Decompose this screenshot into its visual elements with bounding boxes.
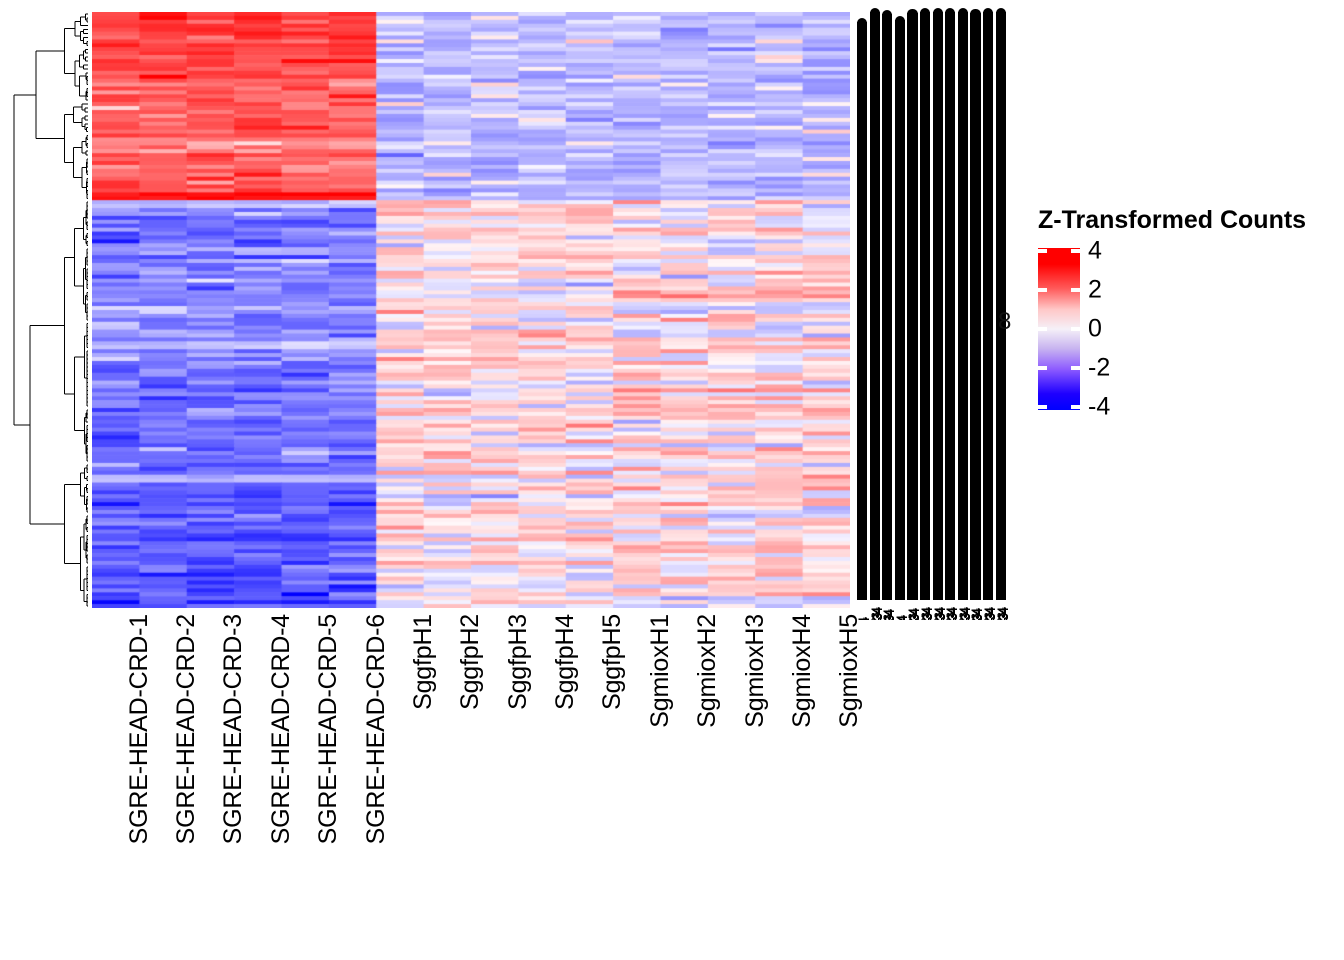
column-label-sggfph4: SggfpH4 xyxy=(551,614,580,710)
row-label: LOC100101234 xyxy=(945,608,957,620)
row-label-band-fill xyxy=(983,12,993,600)
legend-tick-label: 4 xyxy=(1088,239,1102,264)
legend-tick-mark xyxy=(1071,366,1080,370)
row-label: LOC100101234 xyxy=(933,608,945,620)
column-label-sgmioxh4: SgmioxH4 xyxy=(788,614,817,728)
color-legend: Z-Transformed Counts 420-2-4 xyxy=(1036,206,1336,416)
column-label-sggfph3: SggfpH3 xyxy=(504,614,533,710)
legend-tick-label: 0 xyxy=(1088,317,1102,342)
column-label-sggfph5: SggfpH5 xyxy=(598,614,627,710)
row-label: LOC100101234 xyxy=(970,609,982,620)
row-label: LOC100101234 xyxy=(870,608,882,620)
row-label-band-fill xyxy=(970,13,980,600)
legend-tick-mark xyxy=(1038,288,1047,292)
row-label-band-fill xyxy=(933,12,943,600)
heatmap-canvas[interactable] xyxy=(92,12,850,608)
column-label-axis: SGRE-HEAD-CRD-1SGRE-HEAD-CRD-2SGRE-HEAD-… xyxy=(92,608,850,948)
row-label: LOC100101234 xyxy=(983,608,995,620)
row-label-band-fill xyxy=(958,12,968,600)
row-dendrogram-svg xyxy=(10,12,88,608)
heatmap-figure: LOC100101234LOC100101234LOC100101234LOC1… xyxy=(0,0,1344,960)
column-label-sgre-head-crd-5: SGRE-HEAD-CRD-5 xyxy=(314,614,343,844)
row-label-band-fill xyxy=(857,22,867,600)
row-label-band-fill xyxy=(895,20,905,600)
row-label-band-fill xyxy=(882,14,892,600)
column-label-sgre-head-crd-1: SGRE-HEAD-CRD-1 xyxy=(125,614,154,844)
row-label: LOC100101234 xyxy=(882,610,894,620)
legend-tick-mark xyxy=(1071,327,1080,331)
row-dendrogram xyxy=(10,12,88,608)
legend-tick-mark xyxy=(1071,288,1080,292)
legend-tick-mark xyxy=(1038,366,1047,370)
legend-tick-mark xyxy=(1038,327,1047,331)
legend-tick-mark xyxy=(1071,405,1080,409)
column-label-sggfph2: SggfpH2 xyxy=(456,614,485,710)
column-label-sgmioxh5: SgmioxH5 xyxy=(835,614,864,728)
column-label-sgmioxh2: SgmioxH2 xyxy=(693,614,722,728)
row-label-band-fill xyxy=(907,13,917,600)
row-label-overflow-glyph: 8 xyxy=(998,308,1011,336)
legend-tick-label: -4 xyxy=(1088,395,1110,420)
legend-title: Z-Transformed Counts xyxy=(1038,206,1306,235)
row-label-band-fill xyxy=(920,12,930,600)
row-label: LOC100101234 xyxy=(895,616,907,620)
row-label-block: LOC100101234LOC100101234LOC100101234LOC1… xyxy=(850,0,1040,620)
row-label: LOC100101234 xyxy=(907,609,919,620)
row-label: LOC100101234 xyxy=(996,608,1008,620)
row-label-band-fill xyxy=(945,12,955,600)
column-label-sgre-head-crd-6: SGRE-HEAD-CRD-6 xyxy=(362,614,391,844)
column-label-sgre-head-crd-4: SGRE-HEAD-CRD-4 xyxy=(267,614,296,844)
row-label: LOC100101234 xyxy=(958,608,970,620)
row-label: LOC100101234 xyxy=(920,608,932,620)
column-label-sgmioxh3: SgmioxH3 xyxy=(741,614,770,728)
row-label-band-fill xyxy=(870,12,880,600)
row-label-band-fill xyxy=(996,12,1006,600)
legend-tick-label: 2 xyxy=(1088,278,1102,303)
column-label-sgmioxh1: SgmioxH1 xyxy=(646,614,675,728)
legend-tick-mark xyxy=(1038,405,1047,409)
heatmap-matrix[interactable] xyxy=(92,12,850,608)
column-label-sggfph1: SggfpH1 xyxy=(409,614,438,710)
column-label-sgre-head-crd-3: SGRE-HEAD-CRD-3 xyxy=(219,614,248,844)
legend-tick-mark xyxy=(1071,249,1080,253)
column-label-sgre-head-crd-2: SGRE-HEAD-CRD-2 xyxy=(172,614,201,844)
legend-tick-mark xyxy=(1038,249,1047,253)
legend-tick-label: -2 xyxy=(1088,356,1110,381)
